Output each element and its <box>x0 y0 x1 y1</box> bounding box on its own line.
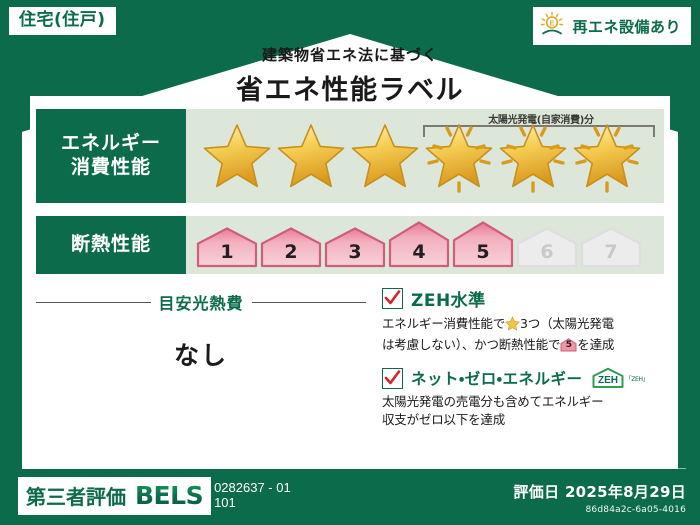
insulation-performance-row: 断熱性能 1 <box>36 216 664 274</box>
insulation-level-number: 6 <box>516 241 578 263</box>
star-icon-solar <box>422 119 496 193</box>
evaluation-date-value: 2025年8月29日 <box>565 483 686 501</box>
solar-sun-icon: E <box>539 11 565 41</box>
insulation-level-3: 3 <box>324 226 386 268</box>
net-zero-check-row: ネット・ゼロ・エネルギー ZEH 「ZEH」 <box>382 367 668 389</box>
zeh-house-badge: ZEH 「ZEH」 <box>591 367 649 389</box>
insulation-level-4: 4 <box>388 220 450 268</box>
insulation-level-scale: 1 2 <box>196 216 658 274</box>
insulation-level-7: 7 <box>580 226 642 268</box>
third-party-label: 第三者評価 <box>26 481 126 510</box>
svg-text:E: E <box>550 20 555 27</box>
building-type-badge: 住宅(住戸) <box>8 6 117 36</box>
zeh-standard-title: ZEH水準 <box>411 286 486 311</box>
insulation-level-number: 5 <box>452 241 514 263</box>
footer-left: 第三者評価 BELS 0282637 - 01 101 <box>18 477 291 515</box>
star-icon-solar <box>570 119 644 193</box>
insulation-level-number: 2 <box>260 241 322 263</box>
net-zero-description: 太陽光発電の売電分も含めてエネルギー 収支がゼロ以下を達成 <box>382 393 668 429</box>
divider-right <box>252 302 367 303</box>
insulation-level-number: 1 <box>196 241 258 263</box>
divider-left <box>36 302 151 303</box>
insulation-mini-house-icon: 5 <box>560 338 577 352</box>
zeh-standard-check-block: ZEH水準 エネルギー消費性能で3つ（太陽光発電 は考慮しない）、かつ断熱性能で… <box>382 286 668 354</box>
insulation-level-1: 1 <box>196 226 258 268</box>
certificate-number: 0282637 - 01 101 <box>214 481 291 510</box>
net-zero-desc-line2: 収支がゼロ以下を達成 <box>382 412 505 427</box>
star-icon <box>505 316 520 336</box>
zeh-standard-checkbox[interactable] <box>382 288 403 309</box>
zeh-standard-description: エネルギー消費性能で3つ（太陽光発電 は考慮しない）、かつ断熱性能で5を達成 <box>382 315 668 354</box>
evaluation-date-label: 評価日 <box>514 483 560 501</box>
zeh-desc-part3: は考慮しない）、かつ断熱性能で <box>382 337 560 352</box>
insulation-row-body: 1 2 <box>186 216 664 274</box>
evaluation-uid: 86d84a2c-6a05-4016 <box>514 505 687 515</box>
check-icon <box>384 289 401 307</box>
zeh-desc-part2: 3つ（太陽光発電 <box>520 316 614 331</box>
svg-text:ZEH: ZEH <box>598 375 618 386</box>
footer-separator <box>22 468 686 469</box>
insulation-level-number: 3 <box>324 241 386 263</box>
insulation-label-text: 断熱性能 <box>71 233 151 257</box>
zeh-badge-subtext: 「ZEH」 <box>626 374 649 383</box>
insulation-level-6: 6 <box>516 226 578 268</box>
insulation-level-number: 7 <box>580 241 642 263</box>
star-icon <box>274 119 348 193</box>
utility-cost-header: 目安光熱費 <box>36 290 366 314</box>
energy-performance-label: 住宅(住戸) E 再エネ設備あり 建築物省エネ法に基づ <box>0 0 700 525</box>
zeh-standard-check-row: ZEH水準 <box>382 286 668 311</box>
footer-right: 評価日 2025年8月29日 86d84a2c-6a05-4016 <box>514 481 687 515</box>
net-zero-check-block: ネット・ゼロ・エネルギー ZEH 「ZEH」 太陽光発電の売電分も含めてエネルギ… <box>382 367 668 429</box>
zeh-desc-part4: を達成 <box>577 337 614 352</box>
certificate-number-line2: 101 <box>214 496 291 511</box>
net-zero-checkbox[interactable] <box>382 368 403 389</box>
net-zero-title: ネット・ゼロ・エネルギー <box>411 367 583 389</box>
building-type-label: 住宅(住戸) <box>19 10 106 30</box>
bels-logo: BELS <box>135 481 203 510</box>
certificate-number-line1: 0282637 - 01 <box>214 481 291 496</box>
renewable-equipment-label: 再エネ設備あり <box>572 16 681 37</box>
insulation-level-2: 2 <box>260 226 322 268</box>
insulation-level-number: 4 <box>388 241 450 263</box>
zeh-house-icon: ZEH <box>591 367 625 389</box>
zeh-desc-part1: エネルギー消費性能で <box>382 316 505 331</box>
star-icon <box>348 119 422 193</box>
energy-star-rating <box>194 109 658 203</box>
bels-plate: 第三者評価 BELS <box>18 477 211 515</box>
check-icon <box>384 369 401 387</box>
renewable-equipment-badge: E 再エネ設備あり <box>532 6 692 46</box>
energy-performance-row: エネルギー 消費性能 太陽光発電(自家消費)分 <box>36 109 664 203</box>
insulation-row-label: 断熱性能 <box>36 216 186 274</box>
star-icon-solar <box>496 119 570 193</box>
utility-cost-title: 目安光熱費 <box>159 290 244 314</box>
mini-house-number: 5 <box>560 339 577 352</box>
energy-performance-row-label: エネルギー 消費性能 <box>36 109 186 203</box>
energy-performance-row-body: 太陽光発電(自家消費)分 <box>186 109 664 203</box>
insulation-level-5: 5 <box>452 220 514 268</box>
certification-checks: ZEH水準 エネルギー消費性能で3つ（太陽光発電 は考慮しない）、かつ断熱性能で… <box>382 286 668 430</box>
star-icon <box>200 119 274 193</box>
utility-cost-value: なし <box>36 336 366 372</box>
net-zero-desc-line1: 太陽光発電の売電分も含めてエネルギー <box>382 394 603 409</box>
evaluation-date: 評価日 2025年8月29日 <box>514 481 687 502</box>
energy-label-line2: 消費性能 <box>71 156 151 180</box>
energy-label-line1: エネルギー <box>61 132 161 156</box>
